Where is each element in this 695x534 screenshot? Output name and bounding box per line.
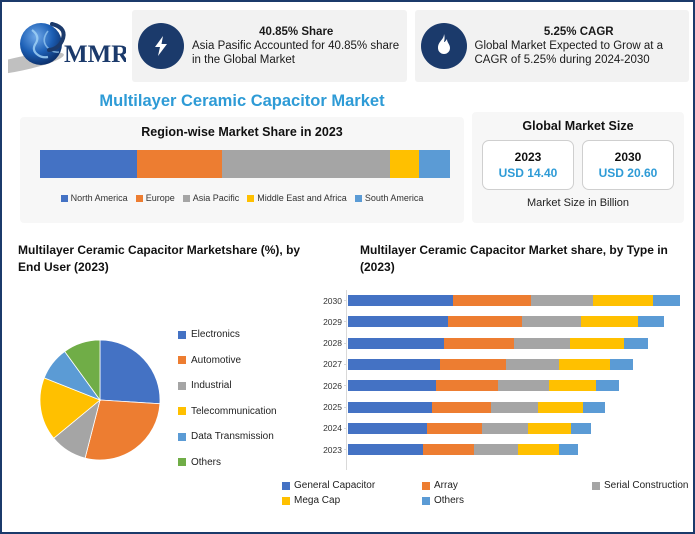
stat-headline: 5.25% CAGR	[475, 25, 684, 39]
region-share-panel: Region-wise Market Share in 2023 North A…	[20, 117, 464, 223]
pie-legend-label: Others	[191, 457, 221, 468]
bar-segment	[348, 316, 448, 327]
bar-segment	[432, 402, 491, 413]
pie-legend-item: Electronics	[178, 322, 318, 348]
gms-year: 2030	[615, 150, 642, 164]
legend-swatch-icon	[61, 195, 68, 202]
bar-segment	[448, 316, 522, 327]
region-legend-label: South America	[365, 193, 424, 203]
region-legend-item: Asia Pacific	[183, 193, 240, 203]
bar-chart-row: 2024	[312, 418, 687, 439]
region-segment	[419, 150, 450, 178]
bar-segment	[348, 380, 436, 391]
pie-slice	[100, 340, 160, 404]
bar-chart-row: 2027	[312, 354, 687, 375]
page-title: Multilayer Ceramic Capacitor Market	[2, 88, 482, 114]
bar-segment	[583, 402, 604, 413]
gms-title: Global Market Size	[472, 119, 684, 133]
legend-swatch-icon	[422, 497, 430, 505]
stat-body: Global Market Expected to Grow at a CAGR…	[475, 39, 684, 67]
bar-segment	[570, 338, 624, 349]
region-segment	[137, 150, 222, 178]
bar-chart-row: 2029	[312, 311, 687, 332]
pie-legend-label: Telecommunication	[191, 406, 277, 417]
legend-swatch-icon	[422, 482, 430, 490]
bar-segment	[653, 295, 679, 306]
bar-chart-row: 2023	[312, 439, 687, 460]
pie-legend-item: Industrial	[178, 373, 318, 399]
bar-chart-year-label: 2026	[312, 375, 342, 396]
bar-segment	[453, 295, 531, 306]
bar-segment	[638, 316, 663, 327]
bar-segment	[444, 338, 514, 349]
bar-legend-item: Serial Construction	[592, 480, 688, 491]
region-legend-item: Europe	[136, 193, 175, 203]
legend-swatch-icon	[178, 433, 186, 441]
gms-box-2023: 2023 USD 14.40	[482, 140, 574, 190]
region-legend-label: North America	[71, 193, 128, 203]
stat-headline: 40.85% Share	[192, 25, 401, 39]
stat-card-share: 40.85% Share Asia Pasific Accounted for …	[132, 10, 407, 82]
bar-segment	[559, 444, 578, 455]
bar-segment	[610, 359, 633, 370]
bar-segment	[596, 380, 618, 391]
region-legend-label: Middle East and Africa	[257, 193, 347, 203]
bar-segment	[498, 380, 549, 391]
axis-tick	[344, 449, 347, 450]
bar-chart-year-label: 2023	[312, 439, 342, 460]
stacked-bar	[348, 295, 680, 306]
stat-body: Asia Pasific Accounted for 40.85% share …	[192, 39, 401, 67]
bar-chart-row: 2028	[312, 333, 687, 354]
infographic-page: MMR 40.85% Share Asia Pasific Accounted …	[0, 0, 695, 534]
bar-legend-item: Mega Cap	[282, 495, 340, 506]
gms-box-2030: 2030 USD 20.60	[582, 140, 674, 190]
legend-swatch-icon	[282, 497, 290, 505]
region-legend-label: Asia Pacific	[193, 193, 240, 203]
bar-segment	[348, 423, 427, 434]
axis-tick	[344, 407, 347, 408]
legend-swatch-icon	[178, 407, 186, 415]
top-stats-row: MMR 40.85% Share Asia Pasific Accounted …	[6, 6, 693, 86]
bar-segment	[348, 444, 423, 455]
svg-text:MMR: MMR	[64, 41, 126, 68]
legend-swatch-icon	[178, 356, 186, 364]
type-bar-chart-title: Multilayer Ceramic Capacitor Market shar…	[360, 242, 690, 277]
region-segment	[40, 150, 137, 178]
axis-tick	[344, 321, 347, 322]
type-bar-legend: General CapacitorArraySerial Constructio…	[282, 478, 692, 508]
gms-year: 2023	[515, 150, 542, 164]
bar-segment	[348, 359, 440, 370]
bar-legend-item: Others	[422, 495, 464, 506]
bar-legend-row: General CapacitorArraySerial Constructio…	[282, 478, 692, 493]
bar-chart-row: 2025	[312, 397, 687, 418]
bar-segment	[531, 295, 593, 306]
pie-legend-label: Industrial	[191, 380, 232, 391]
legend-swatch-icon	[247, 195, 254, 202]
gms-value: USD 20.60	[599, 166, 658, 180]
stat-card-share-text: 40.85% Share Asia Pasific Accounted for …	[192, 25, 401, 67]
bar-legend-label: Serial Construction	[604, 480, 688, 491]
axis-tick	[344, 343, 347, 344]
pie-legend-label: Electronics	[191, 329, 240, 340]
bar-segment	[348, 295, 453, 306]
bar-segment	[514, 338, 570, 349]
legend-swatch-icon	[178, 382, 186, 390]
bar-segment	[506, 359, 559, 370]
stacked-bar	[348, 444, 578, 455]
bar-legend-row: Mega CapOthers	[282, 493, 692, 508]
lightning-bolt-glyph	[149, 34, 173, 58]
axis-tick	[344, 385, 347, 386]
stacked-bar	[348, 423, 591, 434]
region-legend: North AmericaEuropeAsia PacificMiddle Ea…	[20, 193, 464, 203]
stacked-bar	[348, 316, 664, 327]
bar-chart-year-label: 2028	[312, 333, 342, 354]
bar-segment	[571, 423, 591, 434]
end-user-pie-chart	[38, 338, 162, 462]
stacked-bar	[348, 380, 619, 391]
stacked-bar	[348, 338, 648, 349]
bar-chart-row: 2030	[312, 290, 687, 311]
bar-segment	[436, 380, 498, 391]
region-legend-label: Europe	[146, 193, 175, 203]
gms-footer: Market Size in Billion	[472, 197, 684, 209]
legend-swatch-icon	[183, 195, 190, 202]
bar-segment	[348, 402, 432, 413]
bar-chart-year-label: 2027	[312, 354, 342, 375]
stat-card-cagr: 5.25% CAGR Global Market Expected to Gro…	[415, 10, 690, 82]
bar-legend-label: Others	[434, 495, 464, 506]
pie-legend-label: Data Transmission	[191, 431, 274, 442]
bar-segment	[593, 295, 653, 306]
flame-glyph	[432, 33, 456, 59]
bar-segment	[518, 444, 559, 455]
pie-legend-item: Others	[178, 450, 318, 476]
bar-segment	[522, 316, 581, 327]
bar-chart-year-label: 2024	[312, 418, 342, 439]
stacked-bar	[348, 402, 605, 413]
legend-swatch-icon	[592, 482, 600, 490]
axis-tick	[344, 428, 347, 429]
region-legend-item: North America	[61, 193, 128, 203]
mmr-globe-logo-icon: MMR	[8, 16, 126, 76]
axis-tick	[344, 364, 347, 365]
pie-legend: ElectronicsAutomotiveIndustrialTelecommu…	[178, 322, 318, 475]
stat-card-cagr-text: 5.25% CAGR Global Market Expected to Gro…	[475, 25, 684, 67]
bar-segment	[538, 402, 583, 413]
legend-swatch-icon	[136, 195, 143, 202]
legend-swatch-icon	[178, 331, 186, 339]
bar-segment	[482, 423, 528, 434]
legend-swatch-icon	[178, 458, 186, 466]
bar-legend-label: Array	[434, 480, 458, 491]
pie-legend-item: Telecommunication	[178, 399, 318, 425]
pie-legend-item: Automotive	[178, 348, 318, 374]
gms-value: USD 14.40	[499, 166, 558, 180]
mmr-logo: MMR	[6, 10, 128, 82]
bar-segment	[624, 338, 648, 349]
stacked-bar	[348, 359, 633, 370]
region-chart-title: Region-wise Market Share in 2023	[20, 125, 464, 139]
pie-chart-title: Multilayer Ceramic Capacitor Marketshare…	[18, 242, 318, 277]
bar-legend-label: Mega Cap	[294, 495, 340, 506]
bar-segment	[440, 359, 506, 370]
bar-chart-year-label: 2025	[312, 397, 342, 418]
region-segment	[222, 150, 389, 178]
bar-segment	[559, 359, 610, 370]
bar-segment	[581, 316, 638, 327]
bar-legend-item: Array	[422, 480, 458, 491]
bar-segment	[491, 402, 539, 413]
global-market-size-panel: Global Market Size 2023 USD 14.40 2030 U…	[472, 112, 684, 223]
bar-legend-item: General Capacitor	[282, 480, 375, 491]
pie-legend-label: Automotive	[191, 355, 241, 366]
flame-icon	[421, 23, 467, 69]
legend-swatch-icon	[282, 482, 290, 490]
bar-segment	[348, 338, 444, 349]
bar-segment	[549, 380, 597, 391]
bar-chart-year-label: 2029	[312, 311, 342, 332]
bar-segment	[528, 423, 571, 434]
bar-legend-label: General Capacitor	[294, 480, 375, 491]
bar-segment	[474, 444, 518, 455]
region-segment	[390, 150, 420, 178]
type-stacked-bar-chart: 20302029202820272026202520242023	[312, 290, 687, 480]
axis-tick	[344, 300, 347, 301]
region-stacked-bar	[40, 150, 450, 178]
bar-chart-row: 2026	[312, 375, 687, 396]
pie-legend-item: Data Transmission	[178, 424, 318, 450]
bar-segment	[427, 423, 482, 434]
region-legend-item: Middle East and Africa	[247, 193, 347, 203]
gms-boxes: 2023 USD 14.40 2030 USD 20.60	[482, 140, 674, 190]
bar-chart-year-label: 2030	[312, 290, 342, 311]
region-legend-item: South America	[355, 193, 424, 203]
legend-swatch-icon	[355, 195, 362, 202]
bar-segment	[423, 444, 474, 455]
lightning-bolt-icon	[138, 23, 184, 69]
